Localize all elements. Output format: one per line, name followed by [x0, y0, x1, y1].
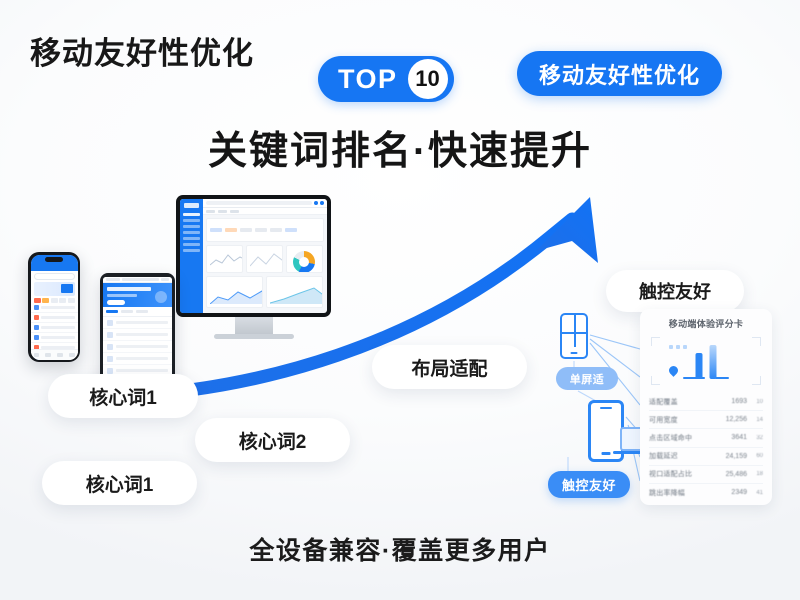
table-row: 点击区域命中 3641 32 — [649, 429, 763, 447]
footer-tagline: 全设备兼容·覆盖更多用户 — [0, 531, 800, 567]
diagram-tag-touch-friendly: 触控友好 — [548, 471, 630, 498]
diagram-tag-single-screen: 单屏适 — [556, 367, 618, 390]
table-row: 视口适配占比 25,486 18 — [649, 466, 763, 484]
device-mockup-group — [28, 195, 328, 375]
top-badge-label: TOP — [338, 64, 398, 95]
desktop-monitor-mockup — [176, 195, 331, 339]
diagram-small-phone-icon — [560, 313, 588, 359]
page-title: 关键词排名·快速提升 — [0, 120, 800, 176]
row-delta: 18 — [751, 471, 763, 477]
table-row: 加载延迟 24,159 60 — [649, 448, 763, 466]
table-row: 跳出率降幅 2349 41 — [649, 484, 763, 501]
touch-friendly-diagram: 单屏适 触控友好 移动端体验评分卡 适配覆盖 1693 10 — [548, 305, 778, 510]
row-delta: 14 — [751, 417, 763, 423]
scorecard-title: 移动端体验评分卡 — [649, 317, 763, 330]
row-delta: 60 — [751, 453, 763, 459]
keyword-pill-layout[interactable]: 布局适配 — [372, 345, 527, 389]
phone-search-bar — [34, 273, 75, 280]
keyword-pill-3[interactable]: 核心词1 — [42, 461, 197, 505]
donut-chart — [293, 251, 315, 273]
poster-canvas: 移动友好性优化 TOP 10 移动友好性优化 关键词排名·快速提升 — [0, 0, 800, 600]
row-value: 12,256 — [726, 416, 747, 423]
row-name: 点击区域命中 — [649, 433, 727, 443]
row-delta: 41 — [751, 490, 763, 496]
row-value: 1693 — [731, 398, 747, 405]
row-name: 加载延迟 — [649, 451, 722, 461]
row-delta: 32 — [751, 435, 763, 441]
row-name: 跳出率降幅 — [649, 488, 727, 498]
scorecard-illustration — [649, 335, 763, 387]
dashboard-sidebar — [180, 199, 203, 313]
row-name: 视口适配占比 — [649, 469, 722, 479]
keyword-pill-1[interactable]: 核心词1 — [48, 374, 198, 418]
table-row: 适配覆盖 1693 10 — [649, 393, 763, 411]
location-pin-icon — [667, 364, 680, 377]
table-row: 可用宽度 12,256 14 — [649, 411, 763, 429]
row-delta: 10 — [751, 399, 763, 405]
row-value: 2349 — [731, 489, 747, 496]
row-value: 25,486 — [726, 471, 747, 478]
row-name: 可用宽度 — [649, 415, 722, 425]
row-value: 24,159 — [726, 453, 747, 460]
smartphone-mockup — [28, 252, 80, 362]
phone-notch — [45, 257, 63, 262]
row-name: 适配覆盖 — [649, 397, 727, 407]
header-kicker: 移动友好性优化 — [30, 28, 254, 73]
header-side-pill: 移动友好性优化 — [517, 51, 722, 96]
mobile-experience-scorecard: 移动端体验评分卡 适配覆盖 1693 10 可用宽度 12,256 14 — [640, 309, 772, 505]
scorecard-row-list: 适配覆盖 1693 10 可用宽度 12,256 14 点击区域命中 3641 … — [649, 393, 763, 501]
row-value: 3641 — [731, 434, 747, 441]
top-badge-number: 10 — [408, 59, 448, 99]
keyword-pill-2[interactable]: 核心词2 — [195, 418, 350, 462]
top-rank-badge: TOP 10 — [318, 56, 454, 102]
